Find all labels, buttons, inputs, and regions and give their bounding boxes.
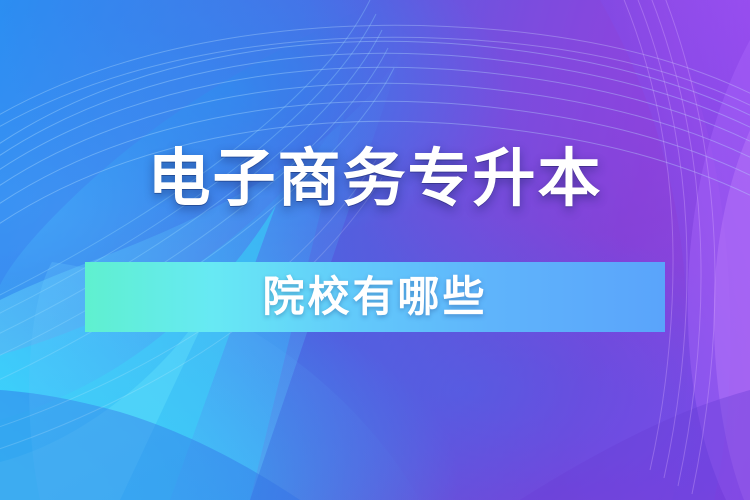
page-title: 电子商务专升本: [0, 148, 750, 211]
decorative-line-bundles: [0, 0, 750, 500]
promo-banner: 电子商务专升本 院校有哪些: [0, 0, 750, 500]
subtitle-text: 院校有哪些: [262, 276, 487, 318]
subtitle-bar: 院校有哪些: [85, 262, 665, 332]
